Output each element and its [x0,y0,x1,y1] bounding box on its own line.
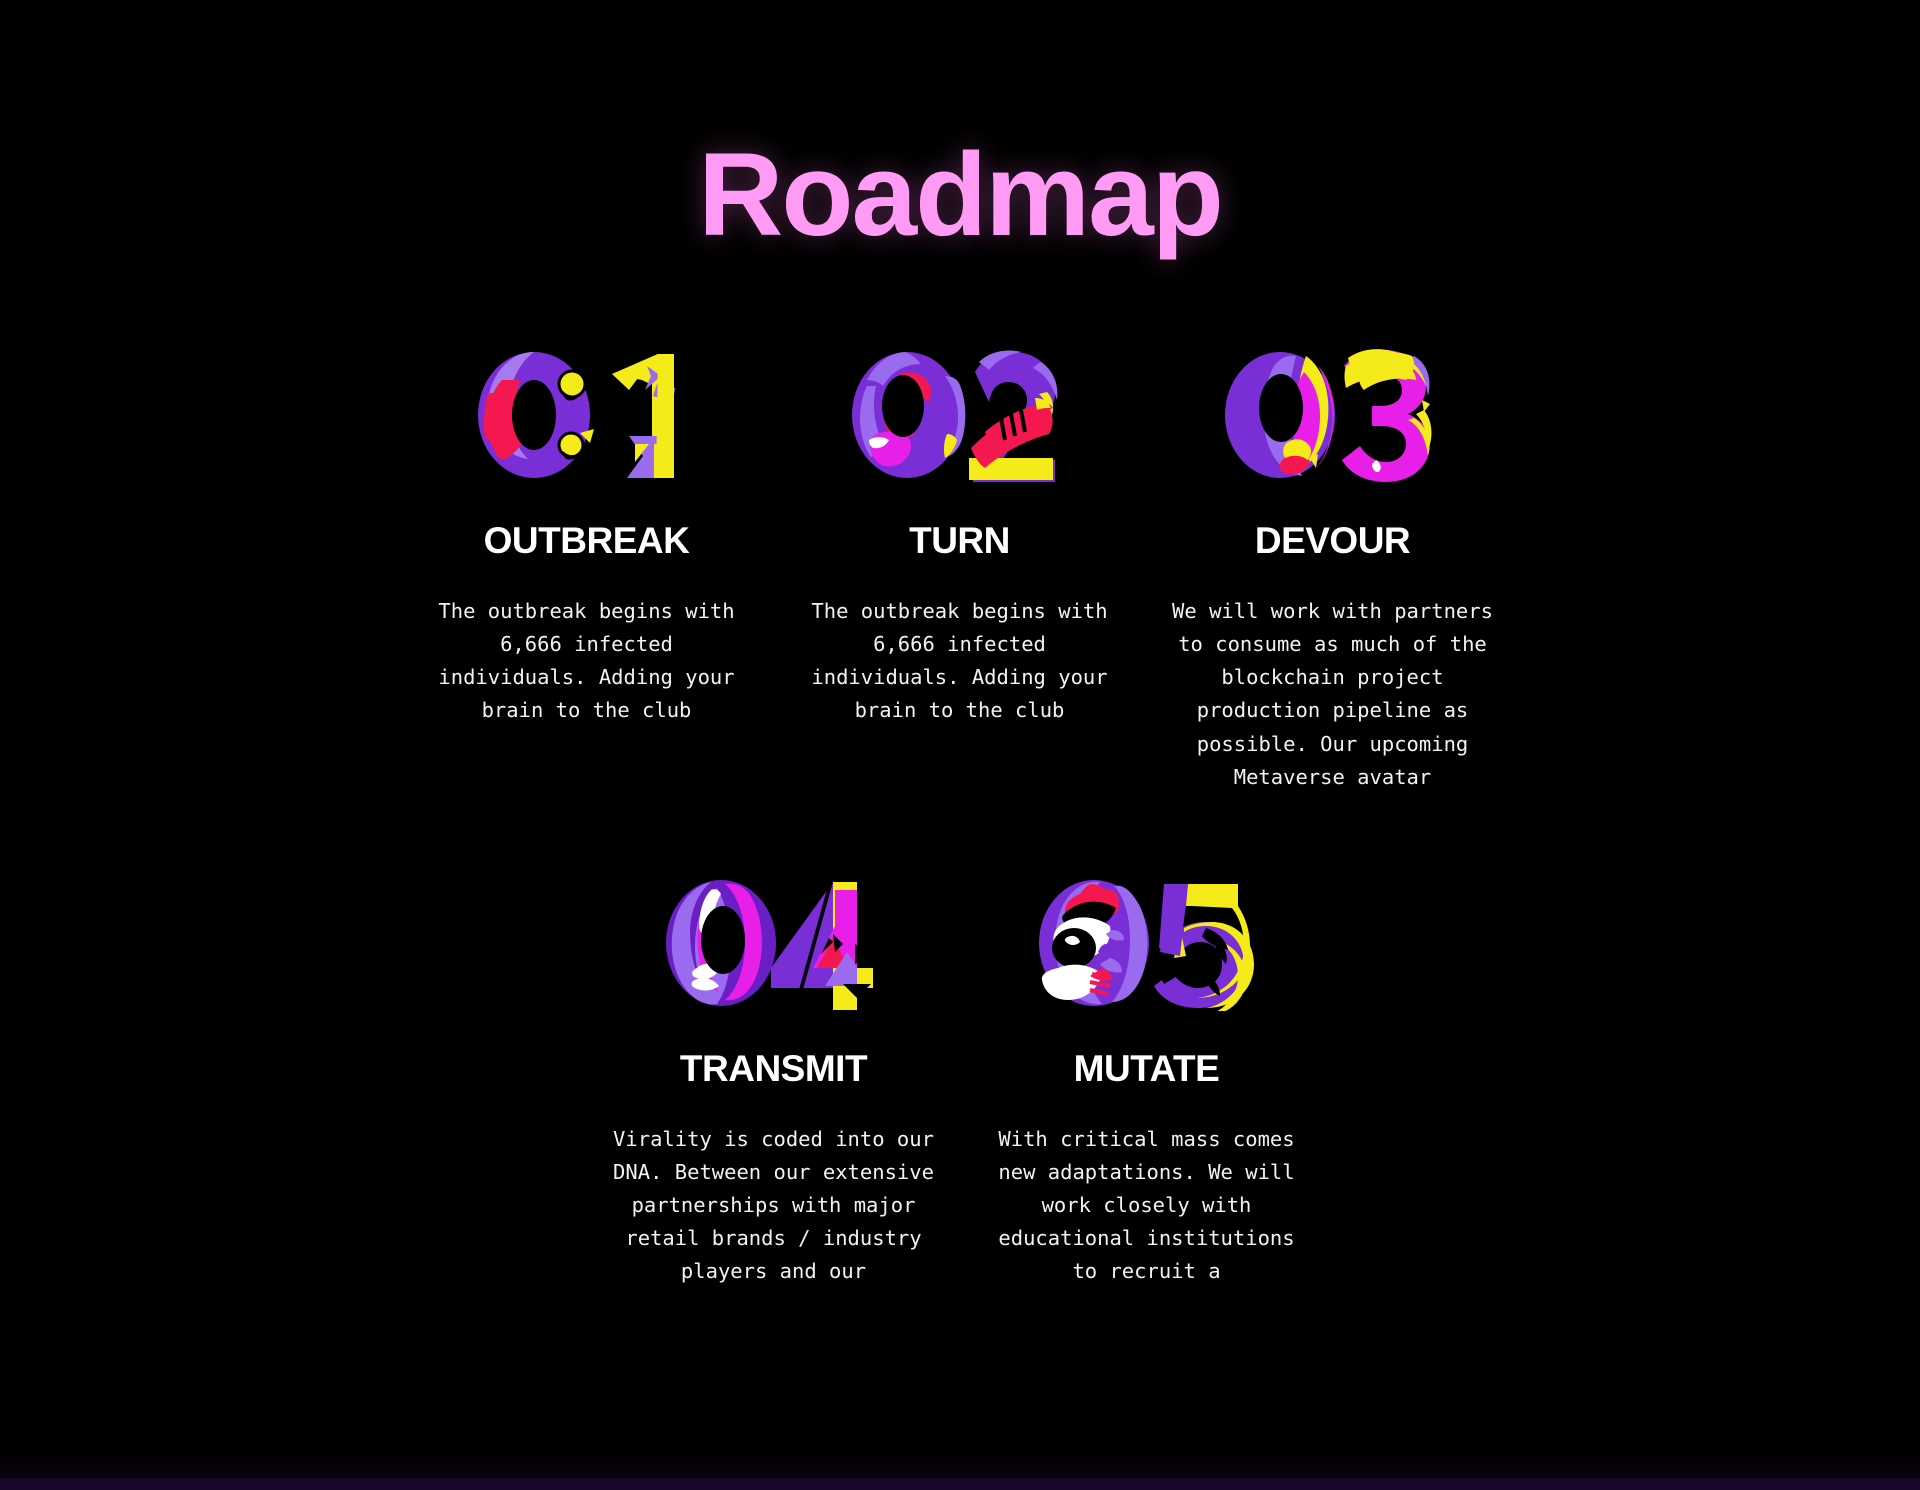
card-heading: TURN [909,521,1010,562]
bottom-accent-band [0,1478,1920,1490]
page-title: Roadmap [0,136,1920,254]
number-graphic-04 [659,876,889,1011]
card-description: The outbreak begins with 6,666 infected … [422,595,752,728]
card-heading: MUTATE [1074,1049,1220,1090]
roadmap-section: Roadmap [0,0,1920,1490]
card-description: The outbreak begins with 6,666 infected … [795,595,1125,728]
roadmap-row: TRANSMIT Virality is coded into our DNA.… [400,794,1520,1289]
card-description: We will work with partners to consume as… [1168,595,1498,794]
card-heading: OUTBREAK [484,521,690,562]
card-description: Virality is coded into our DNA. Between … [609,1123,939,1289]
roadmap-card-02[interactable]: TURN The outbreak begins with 6,666 infe… [773,348,1146,794]
roadmap-card-01[interactable]: OUTBREAK The outbreak begins with 6,666 … [400,348,773,794]
roadmap-card-04[interactable]: TRANSMIT Virality is coded into our DNA.… [587,876,960,1289]
roadmap-grid: OUTBREAK The outbreak begins with 6,666 … [400,254,1520,1289]
number-graphic-05 [1032,876,1262,1011]
number-graphic-03 [1218,348,1448,483]
number-graphic-02 [845,348,1075,483]
roadmap-row: OUTBREAK The outbreak begins with 6,666 … [400,348,1520,794]
card-heading: DEVOUR [1255,521,1410,562]
card-heading: TRANSMIT [680,1049,867,1090]
bottom-gradient-divider [0,1448,1920,1478]
card-description: With critical mass comes new adaptations… [982,1123,1312,1289]
roadmap-card-03[interactable]: DEVOUR We will work with partners to con… [1146,348,1519,794]
roadmap-card-05[interactable]: MUTATE With critical mass comes new adap… [960,876,1333,1289]
number-graphic-01 [472,348,702,483]
